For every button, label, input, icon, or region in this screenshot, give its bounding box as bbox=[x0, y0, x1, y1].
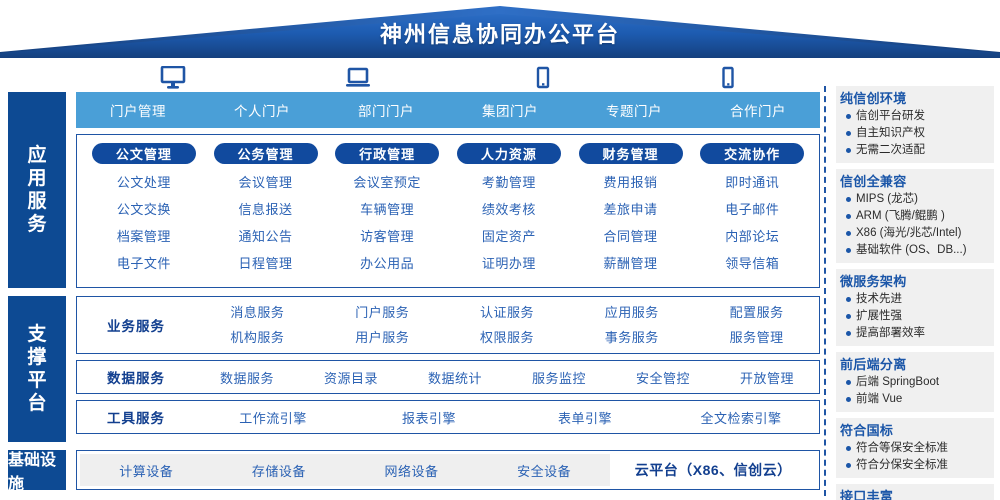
bullet-icon bbox=[846, 331, 851, 336]
feature-list-item: 自主知识产权 bbox=[840, 125, 990, 142]
infrastructure-item[interactable]: 安全设备 bbox=[478, 461, 611, 480]
band-char: 台 bbox=[27, 392, 46, 415]
portal-item-1[interactable]: 个人门户 bbox=[200, 100, 324, 120]
app-item[interactable]: 会议室预定 bbox=[353, 169, 421, 196]
feature-item-text: 提高部署效率 bbox=[856, 325, 925, 342]
desktop-icon bbox=[160, 66, 186, 90]
app-item[interactable]: 档案管理 bbox=[117, 223, 171, 250]
bullet-icon bbox=[846, 380, 851, 385]
support-row-tool: 工具服务 工作流引擎 报表引擎 表单引擎 全文检索引擎 bbox=[76, 400, 820, 434]
bullet-icon bbox=[846, 214, 851, 219]
tablet-icon-cell bbox=[450, 58, 635, 90]
feature-list-item: 符合分保安全标准 bbox=[840, 457, 990, 474]
support-row-business: 业务服务 消息服务 门户服务 认证服务 应用服务 配置服务 机构服务 用户服务 … bbox=[76, 296, 820, 354]
band-char: 平 bbox=[27, 369, 46, 392]
app-item[interactable]: 公文处理 bbox=[117, 169, 171, 196]
feature-list-item: 无需二次适配 bbox=[840, 142, 990, 159]
feature-card-microservice: 微服务架构 技术先进 扩展性强 提高部署效率 bbox=[836, 269, 994, 346]
app-item[interactable]: 即时通讯 bbox=[725, 169, 779, 196]
feature-title: 纯信创环境 bbox=[840, 89, 990, 108]
laptop-icon bbox=[345, 66, 371, 90]
app-item[interactable]: 车辆管理 bbox=[360, 196, 414, 223]
feature-list-item: 提高部署效率 bbox=[840, 325, 990, 342]
app-column-title[interactable]: 交流协作 bbox=[700, 143, 804, 164]
support-item[interactable]: 用户服务 bbox=[320, 325, 445, 350]
bullet-icon bbox=[846, 397, 851, 402]
support-item[interactable]: 工作流引擎 bbox=[195, 408, 351, 427]
feature-list-item: 后端 SpringBoot bbox=[840, 374, 990, 391]
feature-title: 符合国标 bbox=[840, 421, 990, 440]
app-item[interactable]: 会议管理 bbox=[239, 169, 293, 196]
device-icon-strip bbox=[80, 58, 820, 90]
support-row-label: 业务服务 bbox=[77, 315, 195, 335]
feature-item-text: 符合分保安全标准 bbox=[856, 457, 948, 474]
feature-list-item: 符合等保安全标准 bbox=[840, 440, 990, 457]
support-item[interactable]: 权限服务 bbox=[445, 325, 570, 350]
app-item[interactable]: 薪酬管理 bbox=[604, 250, 658, 277]
band-char: 支 bbox=[27, 323, 46, 346]
application-services-box: 公文管理 公文处理 公文交换 档案管理 电子文件 公务管理 会议管理 信息报送 … bbox=[76, 134, 820, 288]
page-title: 神州信息协同办公平台 bbox=[0, 22, 1000, 48]
portal-item-0[interactable]: 门户管理 bbox=[76, 100, 200, 120]
app-column-title[interactable]: 人力资源 bbox=[457, 143, 561, 164]
support-row-label: 工具服务 bbox=[77, 407, 195, 427]
infrastructure-item[interactable]: 计算设备 bbox=[80, 461, 213, 480]
support-item[interactable]: 认证服务 bbox=[445, 300, 570, 325]
app-item[interactable]: 合同管理 bbox=[604, 223, 658, 250]
app-column-title[interactable]: 财务管理 bbox=[579, 143, 683, 164]
portal-item-4[interactable]: 专题门户 bbox=[572, 100, 696, 120]
feature-card-pure-xinchuang: 纯信创环境 信创平台研发 自主知识产权 无需二次适配 bbox=[836, 86, 994, 163]
app-item[interactable]: 电子文件 bbox=[117, 250, 171, 277]
app-item[interactable]: 办公用品 bbox=[360, 250, 414, 277]
feature-list-item: 扩展性强 bbox=[840, 308, 990, 325]
feature-item-text: X86 (海光/兆芯/Intel) bbox=[856, 225, 961, 242]
business-services-grid: 消息服务 门户服务 认证服务 应用服务 配置服务 机构服务 用户服务 权限服务 … bbox=[195, 300, 819, 350]
tool-services-items: 工作流引擎 报表引擎 表单引擎 全文检索引擎 bbox=[195, 408, 819, 427]
bullet-icon bbox=[846, 131, 851, 136]
support-item[interactable]: 数据服务 bbox=[195, 368, 299, 387]
feature-card-rich-api: 接口丰富 开放API管理 bbox=[836, 484, 994, 500]
app-column-renli: 人力资源 考勤管理 绩效考核 固定资产 证明办理 bbox=[448, 143, 570, 283]
support-item[interactable]: 表单引擎 bbox=[507, 408, 663, 427]
bullet-icon bbox=[846, 197, 851, 202]
band-char: 服 bbox=[27, 190, 46, 213]
feature-list-item: 基础软件 (OS、DB...) bbox=[840, 242, 990, 259]
feature-title: 前后端分离 bbox=[840, 355, 990, 374]
bullet-icon bbox=[846, 114, 851, 119]
bullet-icon bbox=[846, 314, 851, 319]
bullet-icon bbox=[846, 463, 851, 468]
feature-title: 接口丰富 bbox=[840, 487, 990, 500]
feature-item-text: 扩展性强 bbox=[856, 308, 902, 325]
app-column-xingzheng: 行政管理 会议室预定 车辆管理 访客管理 办公用品 bbox=[326, 143, 448, 283]
feature-item-text: 符合等保安全标准 bbox=[856, 440, 948, 457]
feature-list-item: X86 (海光/兆芯/Intel) bbox=[840, 225, 990, 242]
feature-card-full-compat: 信创全兼容 MIPS (龙芯) ARM (飞腾/鲲鹏 ) X86 (海光/兆芯/… bbox=[836, 169, 994, 263]
support-item[interactable]: 数据统计 bbox=[403, 368, 507, 387]
app-column-gongwu: 公务管理 会议管理 信息报送 通知公告 日程管理 bbox=[205, 143, 327, 283]
business-services-row-2: 机构服务 用户服务 权限服务 事务服务 服务管理 bbox=[195, 325, 819, 350]
feature-item-text: 前端 Vue bbox=[856, 391, 902, 408]
app-item[interactable]: 绩效考核 bbox=[482, 196, 536, 223]
support-item[interactable]: 消息服务 bbox=[195, 300, 320, 325]
support-item[interactable]: 安全管控 bbox=[611, 368, 715, 387]
support-item[interactable]: 门户服务 bbox=[320, 300, 445, 325]
bullet-icon bbox=[846, 297, 851, 302]
app-item[interactable]: 日程管理 bbox=[239, 250, 293, 277]
app-item[interactable]: 通知公告 bbox=[239, 223, 293, 250]
app-item[interactable]: 信息报送 bbox=[239, 196, 293, 223]
feature-list-item: 技术先进 bbox=[840, 291, 990, 308]
app-item[interactable]: 领导信箱 bbox=[725, 250, 779, 277]
feature-item-text: 自主知识产权 bbox=[856, 125, 925, 142]
support-item[interactable]: 服务管理 bbox=[694, 325, 819, 350]
infrastructure-item[interactable]: 存储设备 bbox=[213, 461, 346, 480]
section-divider bbox=[824, 86, 826, 496]
support-item[interactable]: 报表引擎 bbox=[351, 408, 507, 427]
feature-item-text: 无需二次适配 bbox=[856, 142, 925, 159]
app-column-jiaoliu: 交流协作 即时通讯 电子邮件 内部论坛 领导信箱 bbox=[691, 143, 813, 283]
app-item[interactable]: 固定资产 bbox=[482, 223, 536, 250]
data-services-items: 数据服务 资源目录 数据统计 服务监控 安全管控 开放管理 bbox=[195, 368, 819, 387]
band-support-platform: 支 撑 平 台 bbox=[8, 296, 66, 442]
band-char: 应 bbox=[27, 144, 46, 167]
app-column-title[interactable]: 公文管理 bbox=[92, 143, 196, 164]
infrastructure-devices: 计算设备 存储设备 网络设备 安全设备 bbox=[80, 454, 610, 486]
app-item[interactable]: 差旅申请 bbox=[604, 196, 658, 223]
feature-title: 信创全兼容 bbox=[840, 172, 990, 191]
feature-item-text: 信创平台研发 bbox=[856, 108, 925, 125]
bullet-icon bbox=[846, 231, 851, 236]
business-services-row-1: 消息服务 门户服务 认证服务 应用服务 配置服务 bbox=[195, 300, 819, 325]
bullet-icon bbox=[846, 248, 851, 253]
infrastructure-box: 计算设备 存储设备 网络设备 安全设备 云平台（X86、信创云） bbox=[76, 450, 820, 490]
app-item[interactable]: 访客管理 bbox=[360, 223, 414, 250]
tablet-icon bbox=[534, 66, 552, 90]
laptop-icon-cell bbox=[265, 58, 450, 90]
support-item[interactable]: 应用服务 bbox=[569, 300, 694, 325]
bullet-icon bbox=[846, 446, 851, 451]
app-item[interactable]: 公文交换 bbox=[117, 196, 171, 223]
feature-list-item: ARM (飞腾/鲲鹏 ) bbox=[840, 208, 990, 225]
feature-title: 微服务架构 bbox=[840, 272, 990, 291]
architecture-diagram: 神州信息协同办公平台 bbox=[0, 0, 1000, 500]
support-item[interactable]: 服务监控 bbox=[507, 368, 611, 387]
support-item[interactable]: 机构服务 bbox=[195, 325, 320, 350]
app-item[interactable]: 费用报销 bbox=[604, 169, 658, 196]
title-banner: 神州信息协同办公平台 bbox=[0, 0, 1000, 58]
feature-panel: 纯信创环境 信创平台研发 自主知识产权 无需二次适配 信创全兼容 MIPS (龙… bbox=[836, 86, 994, 496]
app-column-title[interactable]: 行政管理 bbox=[335, 143, 439, 164]
app-item[interactable]: 考勤管理 bbox=[482, 169, 536, 196]
infrastructure-item[interactable]: 网络设备 bbox=[345, 461, 478, 480]
app-column-title[interactable]: 公务管理 bbox=[214, 143, 318, 164]
app-item[interactable]: 电子邮件 bbox=[725, 196, 779, 223]
feature-item-text: 技术先进 bbox=[856, 291, 902, 308]
phone-icon bbox=[719, 66, 737, 90]
support-row-label: 数据服务 bbox=[77, 367, 195, 387]
support-item[interactable]: 开放管理 bbox=[715, 368, 819, 387]
app-column-gongwen: 公文管理 公文处理 公文交换 档案管理 电子文件 bbox=[83, 143, 205, 283]
support-row-data: 数据服务 数据服务 资源目录 数据统计 服务监控 安全管控 开放管理 bbox=[76, 360, 820, 394]
bullet-icon bbox=[846, 148, 851, 153]
feature-list-item: 信创平台研发 bbox=[840, 108, 990, 125]
feature-list-item: 前端 Vue bbox=[840, 391, 990, 408]
app-item[interactable]: 证明办理 bbox=[482, 250, 536, 277]
feature-list-item: MIPS (龙芯) bbox=[840, 191, 990, 208]
portal-item-2[interactable]: 部门门户 bbox=[324, 100, 448, 120]
band-infrastructure: 基础设施 bbox=[8, 450, 66, 490]
feature-item-text: 基础软件 (OS、DB...) bbox=[856, 242, 967, 259]
support-item[interactable]: 全文检索引擎 bbox=[663, 408, 819, 427]
phone-icon-cell bbox=[635, 58, 820, 90]
band-application-services: 应 用 服 务 bbox=[8, 92, 66, 288]
feature-item-text: ARM (飞腾/鲲鹏 ) bbox=[856, 208, 945, 225]
desktop-icon-cell bbox=[80, 58, 265, 90]
support-item[interactable]: 资源目录 bbox=[299, 368, 403, 387]
portal-item-3[interactable]: 集团门户 bbox=[448, 100, 572, 120]
app-column-caiwu: 财务管理 费用报销 差旅申请 合同管理 薪酬管理 bbox=[570, 143, 692, 283]
portal-item-5[interactable]: 合作门户 bbox=[696, 100, 820, 120]
feature-item-text: MIPS (龙芯) bbox=[856, 191, 918, 208]
feature-item-text: 后端 SpringBoot bbox=[856, 374, 939, 391]
support-item[interactable]: 事务服务 bbox=[569, 325, 694, 350]
band-char: 撑 bbox=[27, 346, 46, 369]
band-char: 务 bbox=[27, 213, 46, 236]
app-item[interactable]: 内部论坛 bbox=[725, 223, 779, 250]
band-char: 用 bbox=[27, 167, 46, 190]
portal-bar: 门户管理 个人门户 部门门户 集团门户 专题门户 合作门户 bbox=[76, 92, 820, 128]
feature-card-national-standard: 符合国标 符合等保安全标准 符合分保安全标准 bbox=[836, 418, 994, 478]
cloud-platform-item[interactable]: 云平台（X86、信创云） bbox=[610, 460, 816, 480]
support-item[interactable]: 配置服务 bbox=[694, 300, 819, 325]
feature-card-frontend-backend: 前后端分离 后端 SpringBoot 前端 Vue bbox=[836, 352, 994, 412]
